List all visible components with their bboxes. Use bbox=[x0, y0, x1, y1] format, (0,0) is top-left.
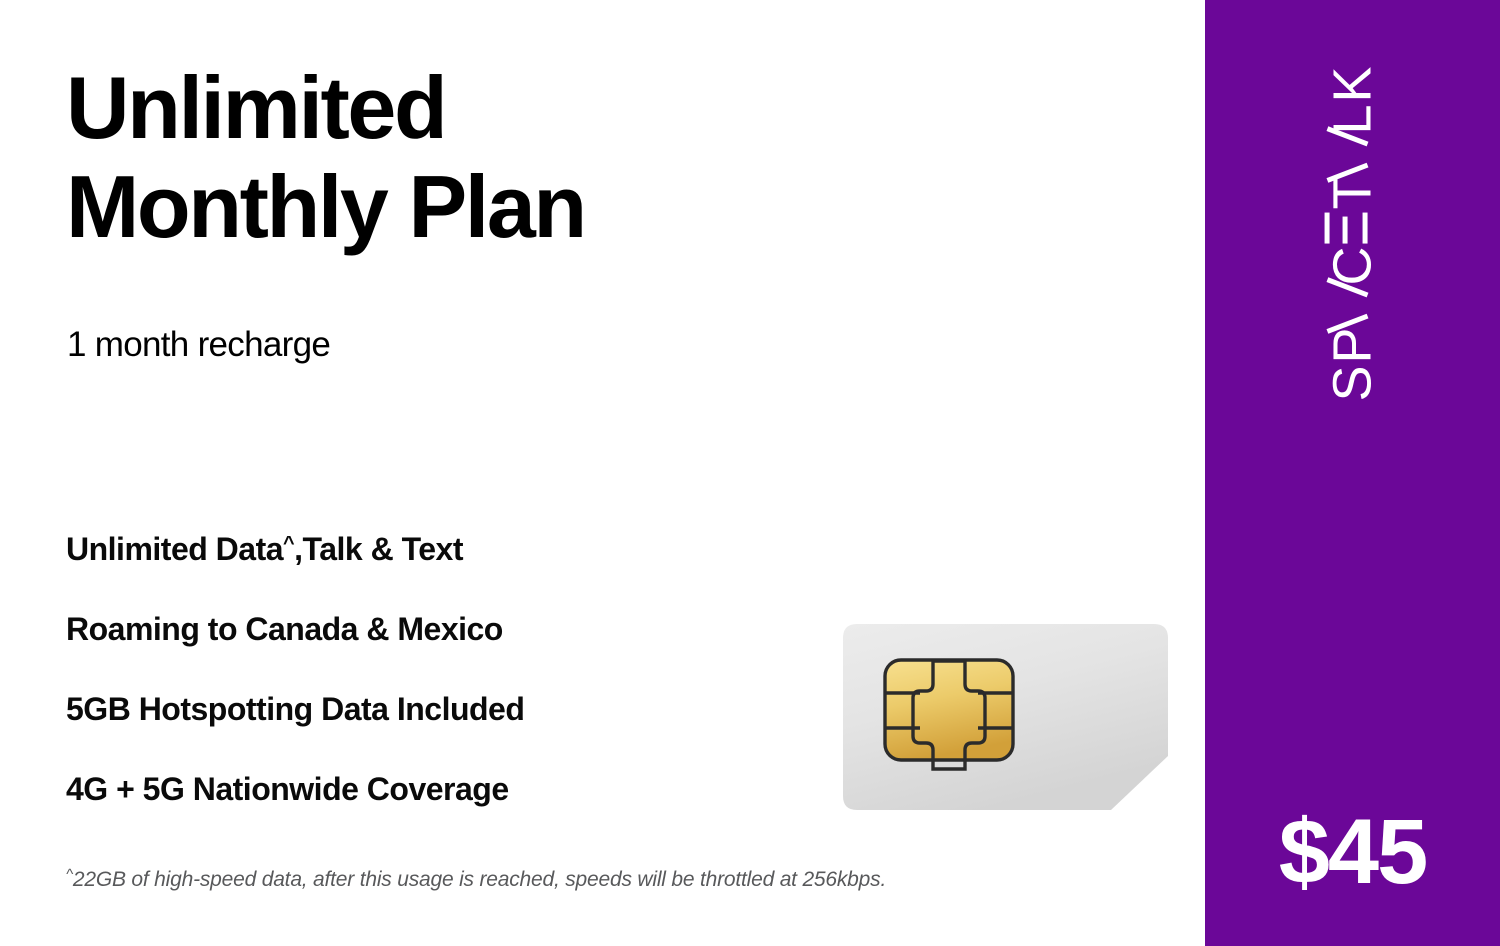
logo-letters-spac: SP bbox=[1326, 326, 1380, 402]
list-item: 4G + 5G Nationwide Coverage bbox=[66, 773, 826, 805]
feature-text-after: ,Talk & Text bbox=[294, 531, 463, 567]
list-item: 5GB Hotspotting Data Included bbox=[66, 693, 826, 725]
plan-card: Unlimited Monthly Plan 1 month recharge … bbox=[0, 0, 1500, 946]
logo-glyph-e-icon bbox=[1326, 212, 1380, 244]
list-item: Unlimited Data^,Talk & Text bbox=[66, 533, 826, 565]
brand-panel: SPCTLK $45 bbox=[1205, 0, 1500, 946]
sim-card-illustration bbox=[843, 624, 1168, 810]
feature-text: Roaming to Canada & Mexico bbox=[66, 611, 503, 647]
feature-list: Unlimited Data^,Talk & Text Roaming to C… bbox=[66, 533, 826, 805]
feature-text: Unlimited Data bbox=[66, 531, 283, 567]
sim-chip bbox=[885, 660, 1013, 769]
logo-letters-lk: LK bbox=[1326, 64, 1380, 134]
plan-details-pane: Unlimited Monthly Plan 1 month recharge … bbox=[0, 0, 1205, 946]
plan-price: $45 bbox=[1205, 806, 1500, 898]
disclaimer-text: ^22GB of high-speed data, after this usa… bbox=[66, 866, 886, 892]
disclaimer-marker: ^ bbox=[66, 866, 73, 883]
disclaimer-body: 22GB of high-speed data, after this usag… bbox=[73, 868, 886, 891]
plan-title-line-1: Unlimited bbox=[66, 58, 766, 157]
spacetalk-logo: SPCTLK bbox=[1205, 38, 1500, 428]
feature-superscript: ^ bbox=[283, 533, 294, 555]
feature-text: 4G + 5G Nationwide Coverage bbox=[66, 771, 509, 807]
list-item: Roaming to Canada & Mexico bbox=[66, 613, 826, 645]
logo-glyph-a-icon bbox=[1326, 136, 1380, 174]
logo-glyph-a-icon bbox=[1326, 287, 1380, 325]
plan-subtitle: 1 month recharge bbox=[67, 325, 330, 365]
plan-title-line-2: Monthly Plan bbox=[66, 157, 766, 256]
page-title: Unlimited Monthly Plan bbox=[66, 58, 766, 257]
chip-outline bbox=[885, 660, 1013, 760]
feature-text: 5GB Hotspotting Data Included bbox=[66, 691, 524, 727]
sim-card-icon bbox=[843, 624, 1168, 810]
brand-logo-wordmark: SPCTLK bbox=[1326, 64, 1380, 401]
